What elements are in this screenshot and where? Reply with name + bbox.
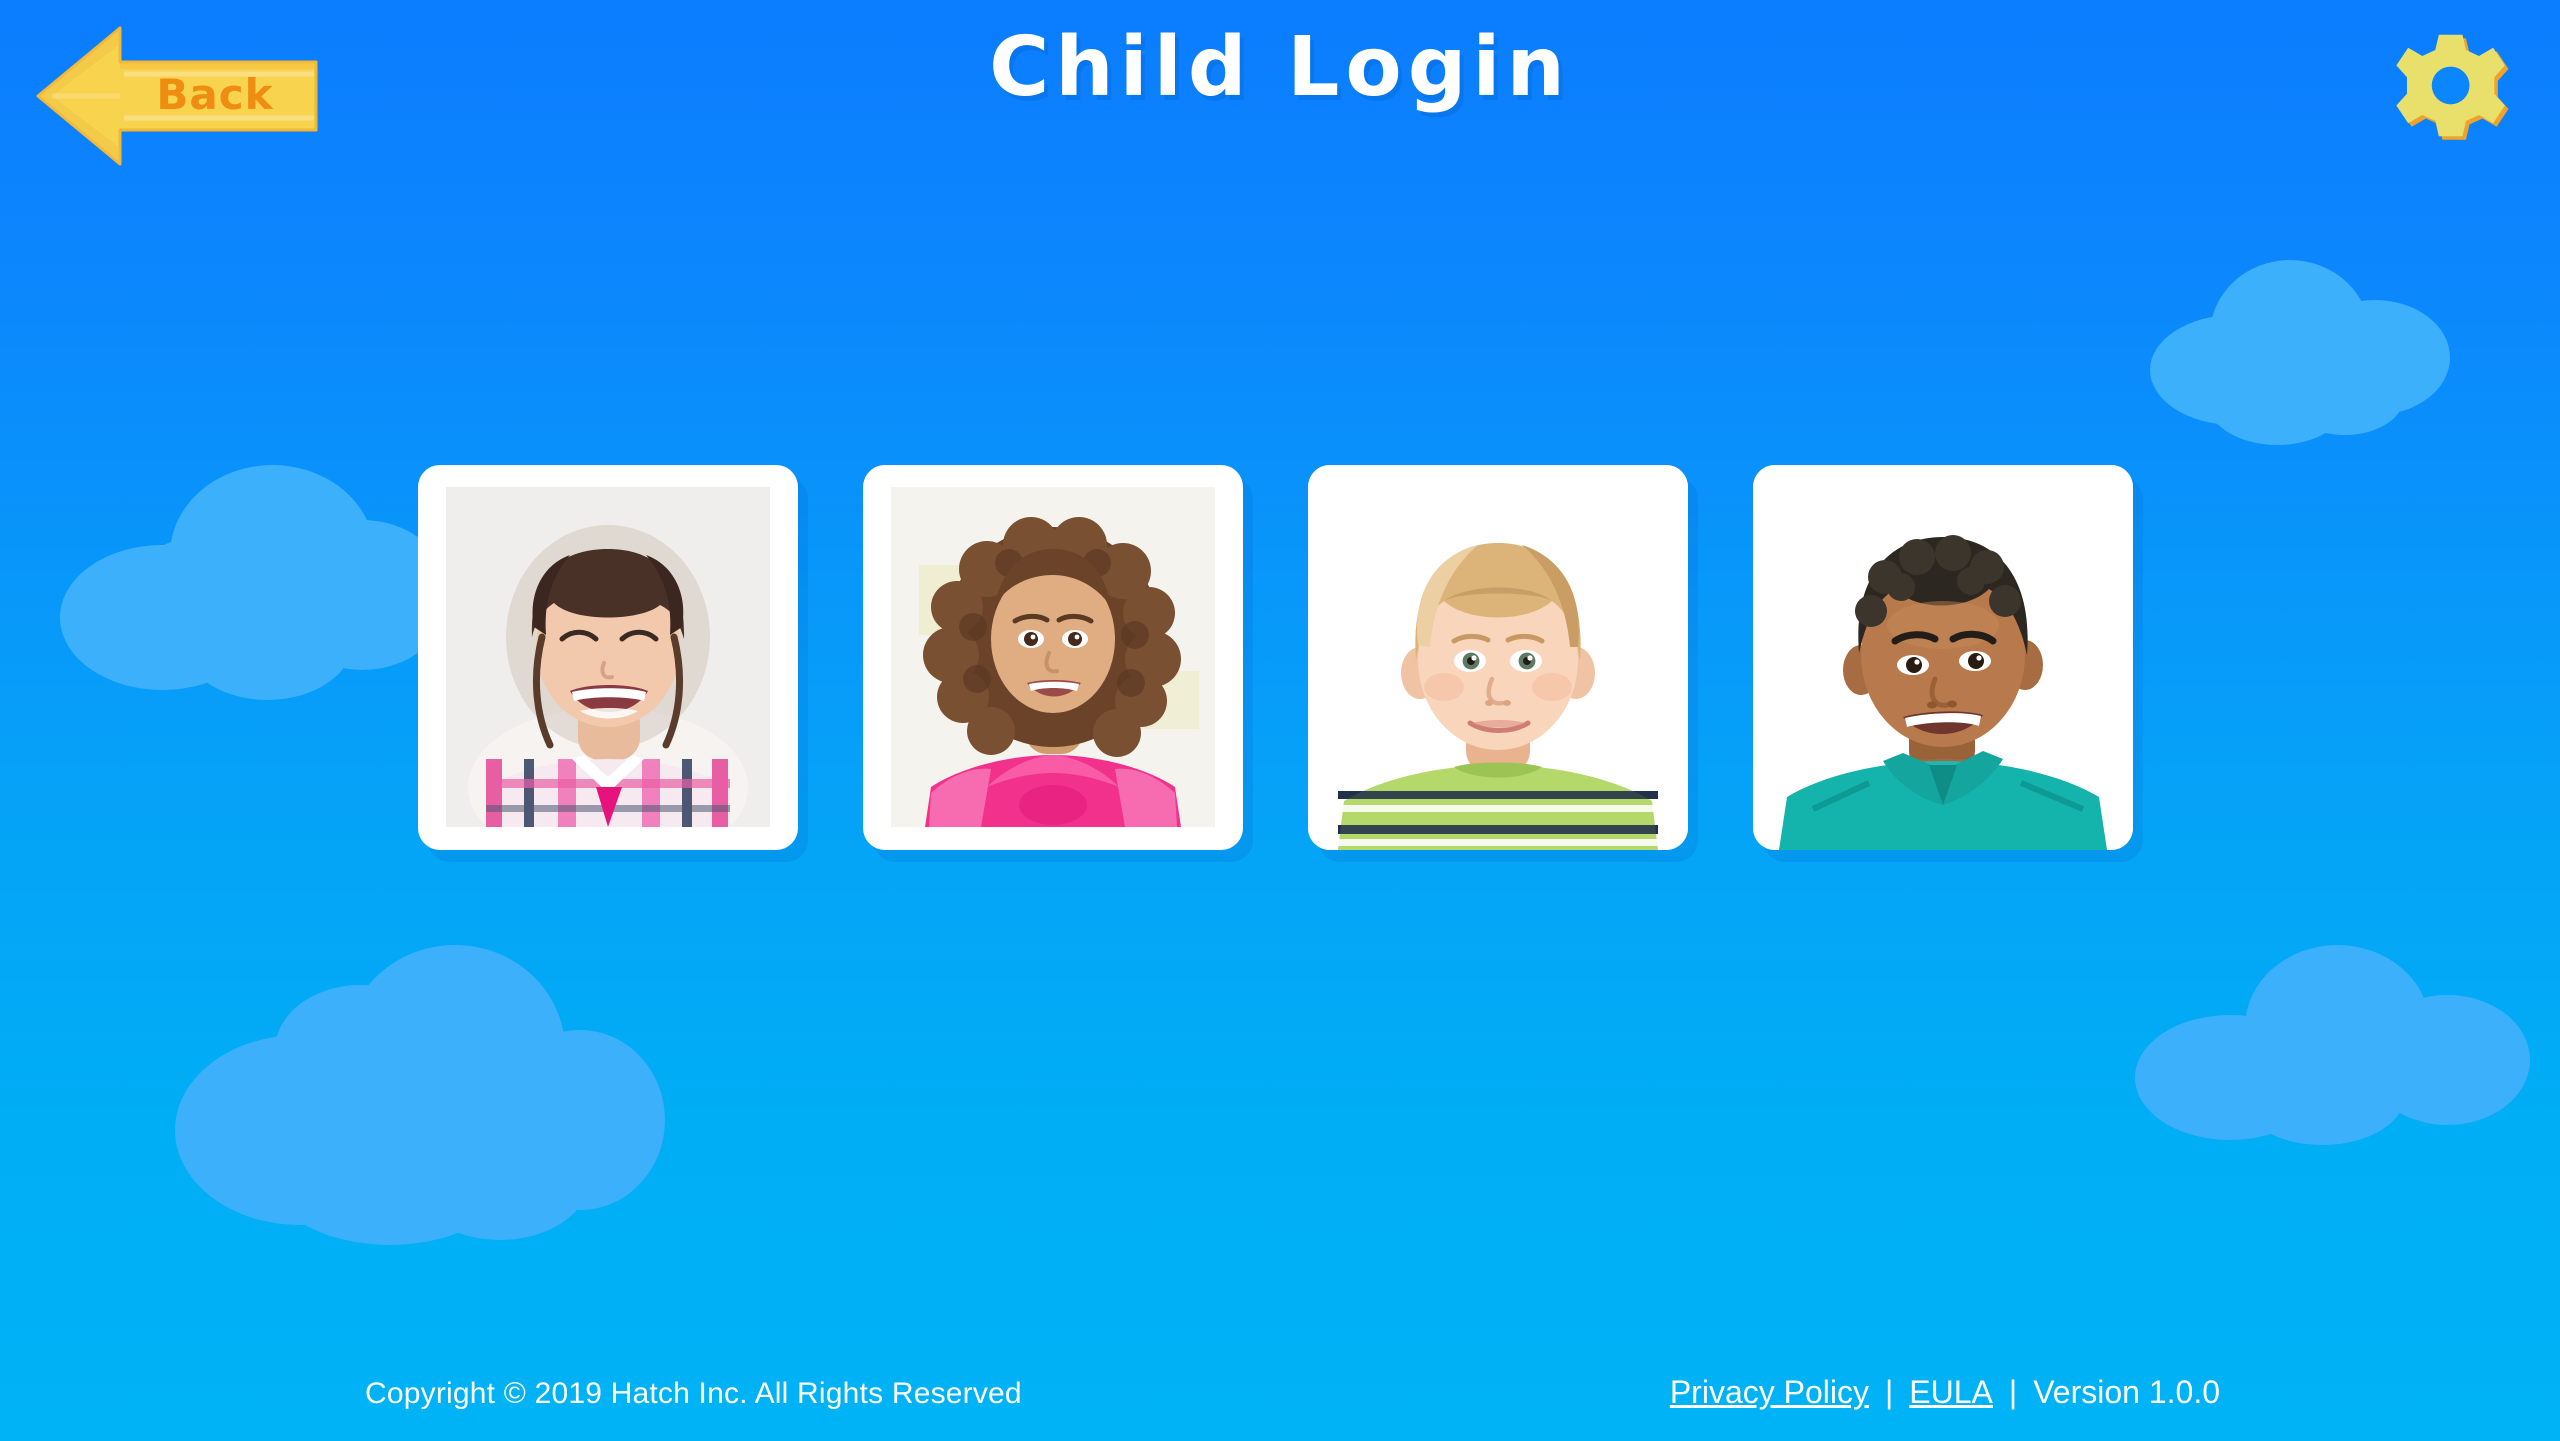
child-card[interactable] (418, 465, 798, 850)
privacy-policy-link[interactable]: Privacy Policy (1670, 1374, 1869, 1411)
page-title: Child Login (0, 20, 2560, 115)
child-photo-frame (1753, 465, 2133, 850)
page-footer: Copyright © 2019 Hatch Inc. All Rights R… (0, 1331, 2560, 1441)
settings-button[interactable] (2394, 30, 2512, 148)
child-photo-frame (891, 487, 1215, 827)
child-photo-2 (891, 487, 1215, 827)
footer-separator-2: | (2009, 1374, 2017, 1411)
version-text: Version 1.0.0 (2033, 1374, 2220, 1411)
footer-separator-1: | (1885, 1374, 1893, 1411)
cloud-shape (60, 465, 480, 700)
child-photo-1 (446, 487, 770, 827)
child-photo-frame (1308, 465, 1688, 850)
footer-links: Privacy Policy | EULA | Version 1.0.0 (1670, 1374, 2220, 1411)
child-card[interactable] (863, 465, 1243, 850)
child-login-screen: Back Child Login (0, 0, 2560, 1441)
cloud-shape (2110, 255, 2470, 430)
child-card[interactable] (1308, 465, 1688, 850)
child-photo-4 (1753, 465, 2133, 850)
cloud-shape (155, 945, 655, 1245)
page-header: Back Child Login (0, 0, 2560, 190)
child-photo-frame (446, 487, 770, 827)
gear-icon (2394, 30, 2512, 148)
child-card-list (418, 465, 2133, 850)
copyright-text: Copyright © 2019 Hatch Inc. All Rights R… (365, 1377, 1022, 1411)
child-photo-3 (1308, 465, 1688, 850)
child-card[interactable] (1753, 465, 2133, 850)
eula-link[interactable]: EULA (1909, 1374, 1993, 1411)
cloud-shape (2135, 945, 2535, 1145)
